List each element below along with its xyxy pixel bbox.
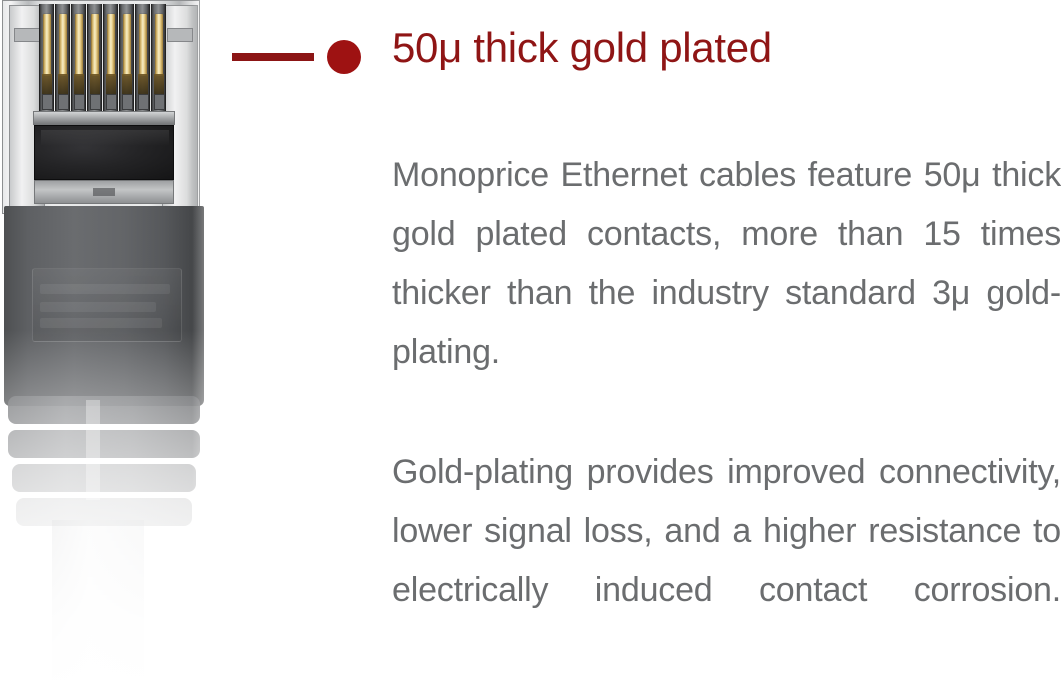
pin-tail (74, 74, 84, 94)
plug-housing (2, 0, 200, 214)
product-feature-panel: 50μ thick gold plated Monoprice Ethernet… (0, 0, 1061, 691)
contact-slot (103, 4, 118, 112)
pin-tail (42, 74, 52, 94)
pin-tail (122, 74, 132, 94)
boot-rib (12, 464, 196, 492)
pin-tail (154, 74, 164, 94)
pin-pad (138, 94, 149, 110)
contact-slot (135, 4, 150, 112)
housing-lip (34, 180, 174, 204)
plug-cavity (34, 125, 174, 180)
gold-contact-bay (39, 4, 169, 112)
pin-tail (90, 74, 100, 94)
gold-pin-icon (43, 14, 51, 76)
feature-paragraph: Monoprice Ethernet cables feature 50μ th… (392, 146, 1061, 441)
housing-ledge (33, 111, 175, 125)
gold-pin-icon (75, 14, 83, 76)
lip-print-mark (93, 188, 115, 196)
boot-emboss-line (40, 318, 162, 328)
bullet-line-icon (232, 53, 314, 61)
feature-headline: 50μ thick gold plated (392, 22, 772, 74)
contact-slot (39, 4, 54, 112)
rj45-connector-photo (0, 0, 232, 691)
boot-emboss-line (40, 302, 156, 312)
bullet-marker (232, 39, 364, 75)
pin-tail (138, 74, 148, 94)
contact-slot (71, 4, 86, 112)
housing-notch-right (167, 28, 193, 42)
boot-rib-gap (86, 400, 100, 500)
cavity-sheen (41, 130, 169, 146)
contact-slot (55, 4, 70, 112)
gold-pin-icon (59, 14, 67, 76)
feature-copy-block: 50μ thick gold plated Monoprice Ethernet… (232, 0, 1061, 691)
pin-tail (106, 74, 116, 94)
gold-pin-icon (123, 14, 131, 76)
pin-pad (42, 94, 53, 110)
contact-slot (151, 4, 166, 112)
bullet-dot-icon (327, 40, 361, 74)
boot-rib (8, 396, 200, 424)
contact-slot (87, 4, 102, 112)
pin-pad (106, 94, 117, 110)
pin-pad (90, 94, 101, 110)
strain-relief-boot (4, 206, 204, 406)
pin-tail (58, 74, 68, 94)
cable-jacket (52, 520, 144, 691)
pin-pad (58, 94, 69, 110)
gold-pin-icon (107, 14, 115, 76)
contact-slot (119, 4, 134, 112)
boot-rib-group (8, 396, 200, 536)
feature-paragraph: Gold-plating provides improved connectiv… (392, 443, 1061, 679)
gold-pin-icon (91, 14, 99, 76)
boot-rib (8, 430, 200, 458)
boot-emboss-line (40, 284, 170, 294)
gold-pin-icon (139, 14, 147, 76)
pin-pad (122, 94, 133, 110)
pin-pad (154, 94, 165, 110)
gold-pin-icon (155, 14, 163, 76)
pin-pad (74, 94, 85, 110)
housing-notch-left (14, 28, 40, 42)
